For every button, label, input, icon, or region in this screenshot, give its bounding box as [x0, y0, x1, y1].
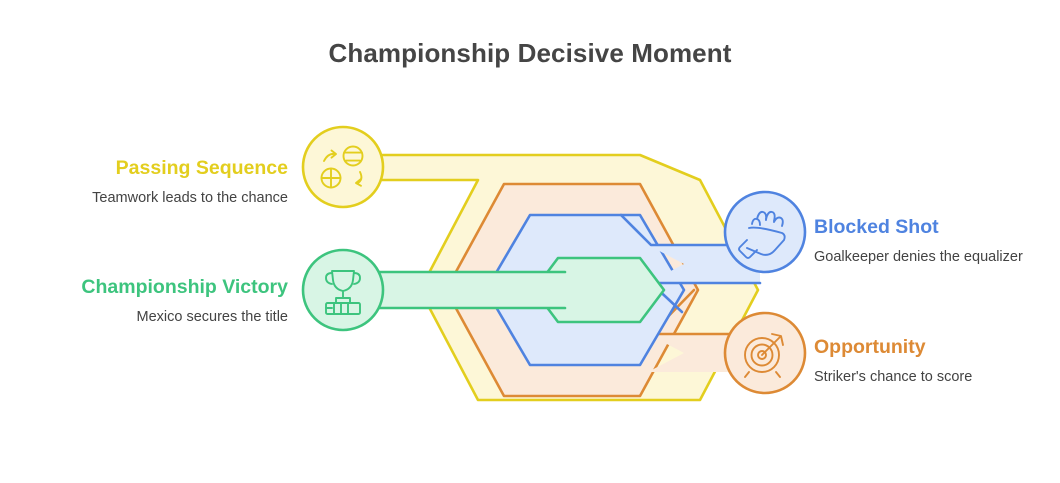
label-title-opportunity: Opportunity — [814, 336, 1044, 359]
label-opportunity: Opportunity Striker's chance to score — [814, 336, 1044, 388]
diagram-canvas: Championship Decisive Moment — [0, 0, 1060, 483]
label-passing-sequence: Passing Sequence Teamwork leads to the c… — [35, 157, 288, 209]
championship-victory-icon-circle[interactable] — [303, 250, 383, 330]
blocked-shot-icon-circle[interactable] — [725, 192, 805, 272]
label-title-blocked-shot: Blocked Shot — [814, 216, 1044, 239]
label-desc-blocked-shot: Goalkeeper denies the equalizer — [814, 247, 1044, 268]
label-championship-victory: Championship Victory Mexico secures the … — [12, 276, 288, 328]
label-title-championship-victory: Championship Victory — [12, 276, 288, 299]
label-title-passing-sequence: Passing Sequence — [35, 157, 288, 180]
label-desc-championship-victory: Mexico secures the title — [12, 307, 288, 328]
passing-sequence-icon-circle[interactable] — [303, 127, 383, 207]
label-desc-opportunity: Striker's chance to score — [814, 367, 1044, 388]
label-desc-passing-sequence: Teamwork leads to the chance — [35, 188, 288, 209]
label-blocked-shot: Blocked Shot Goalkeeper denies the equal… — [814, 216, 1044, 268]
